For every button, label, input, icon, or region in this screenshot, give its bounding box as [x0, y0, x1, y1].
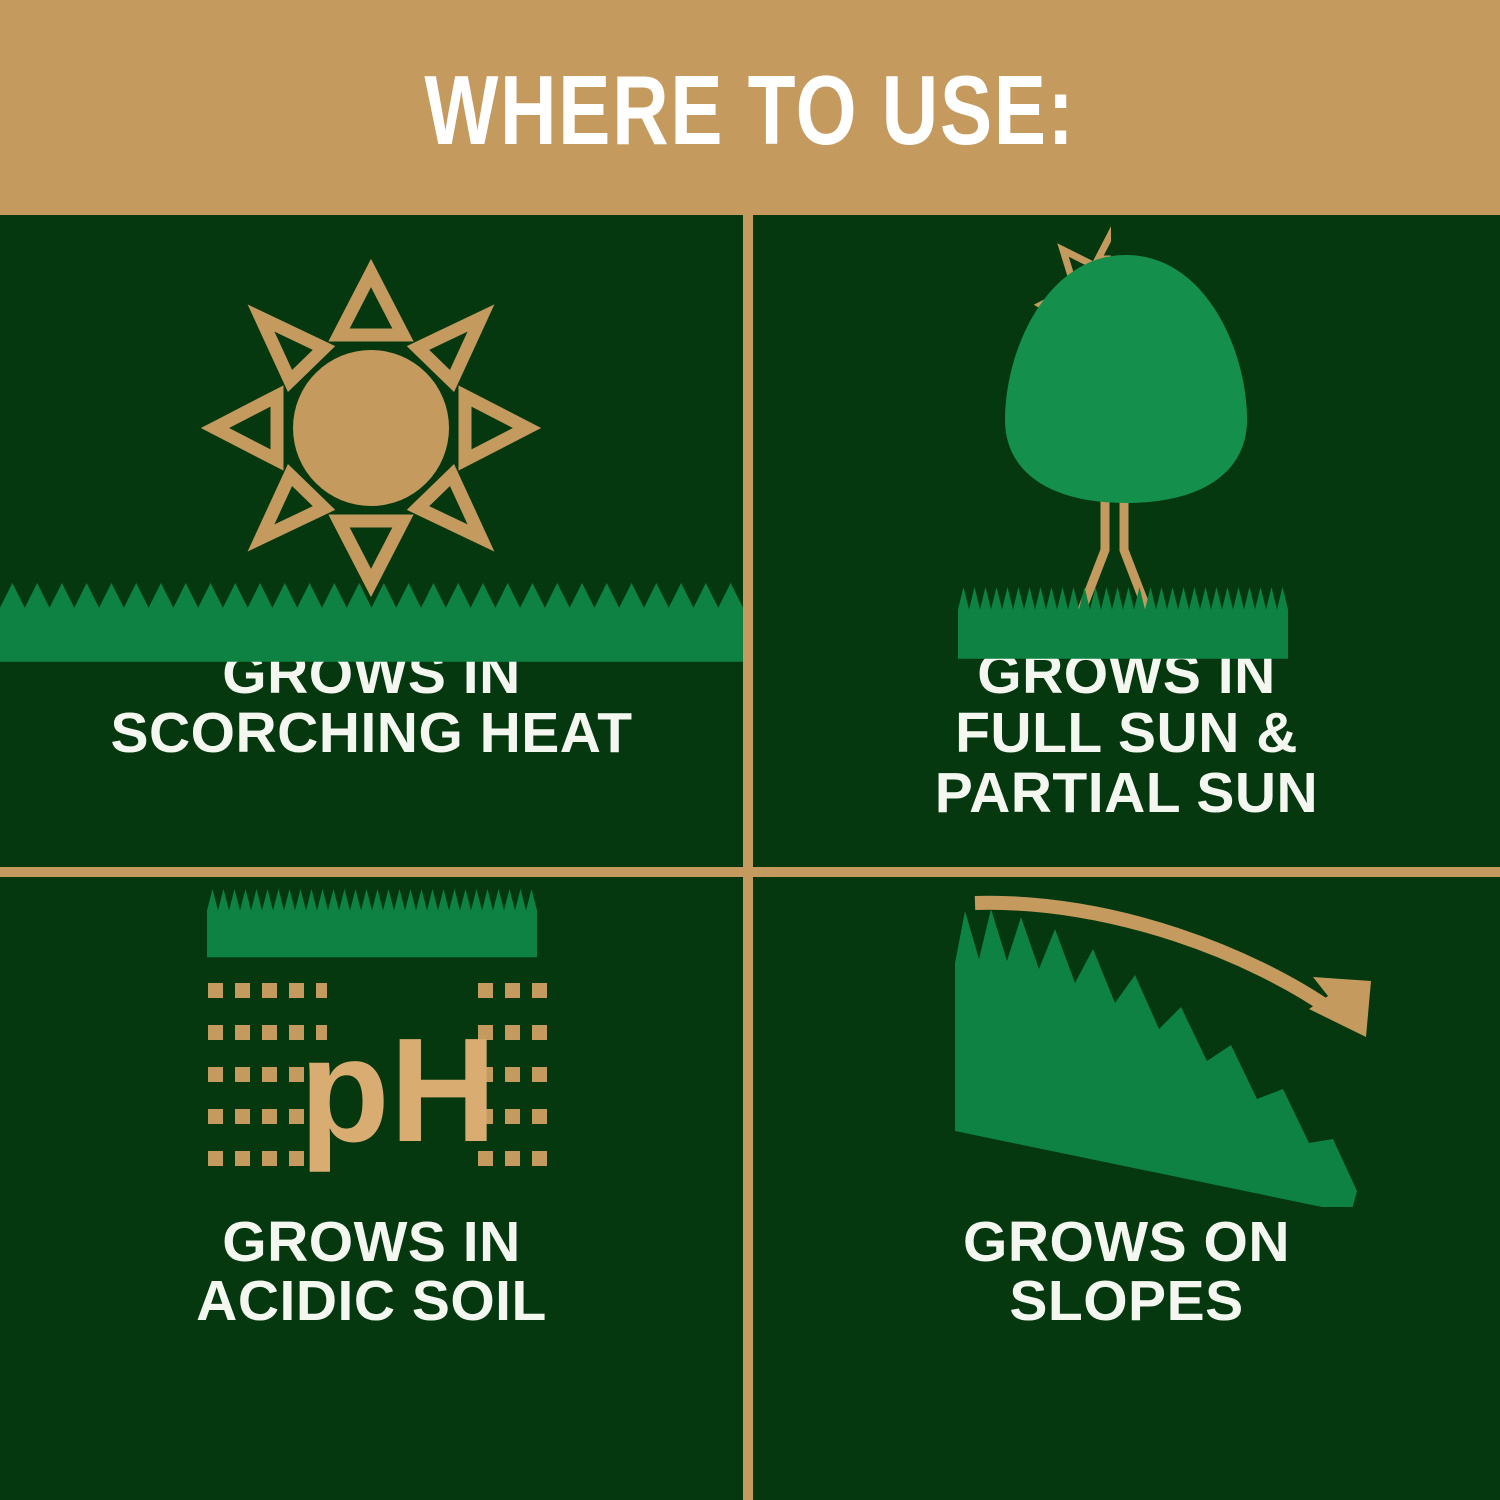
- panel-scorching-heat[interactable]: GROWS IN SCORCHING HEAT: [0, 215, 743, 867]
- grass-strip-icon: [207, 889, 537, 967]
- sun-over-grass-icon: [0, 215, 743, 645]
- horizontal-divider: [0, 867, 1500, 877]
- panel-caption: GROWS IN ACIDIC SOIL: [196, 1213, 547, 1332]
- panel-slopes[interactable]: GROWS ON SLOPES: [753, 877, 1500, 1500]
- panel-caption: GROWS ON SLOPES: [963, 1213, 1290, 1332]
- tree-and-sun-icon: [753, 215, 1500, 645]
- grass-strip-icon: [0, 583, 743, 673]
- ph-soil-under-grass-icon: pH: [0, 877, 743, 1207]
- tree-canopy: [1005, 255, 1247, 503]
- panel-caption: GROWS IN FULL SUN & PARTIAL SUN: [935, 645, 1318, 823]
- header-band: WHERE TO USE:: [0, 0, 1500, 215]
- ph-label: pH: [299, 1008, 496, 1173]
- feature-grid: GROWS IN SCORCHING HEAT: [0, 215, 1500, 1500]
- page-title: WHERE TO USE:: [425, 61, 1076, 159]
- panel-acidic-soil[interactable]: pH GROWS IN ACIDIC SOIL: [0, 877, 743, 1500]
- tree-with-sun-over-grass-icon: [753, 215, 1500, 645]
- infographic-root: WHERE TO USE:: [0, 0, 1500, 1500]
- sloped-grass-with-arrow-icon: [753, 877, 1500, 1207]
- sun-icon: [0, 215, 743, 645]
- slope-icon: [753, 877, 1500, 1207]
- grass-strip-icon: [958, 587, 1288, 669]
- vertical-divider: [743, 215, 753, 1500]
- sloped-grass: [955, 909, 1357, 1207]
- soil-dots-grid: pH: [0, 973, 743, 1203]
- panel-full-partial-sun[interactable]: GROWS IN FULL SUN & PARTIAL SUN: [753, 215, 1500, 867]
